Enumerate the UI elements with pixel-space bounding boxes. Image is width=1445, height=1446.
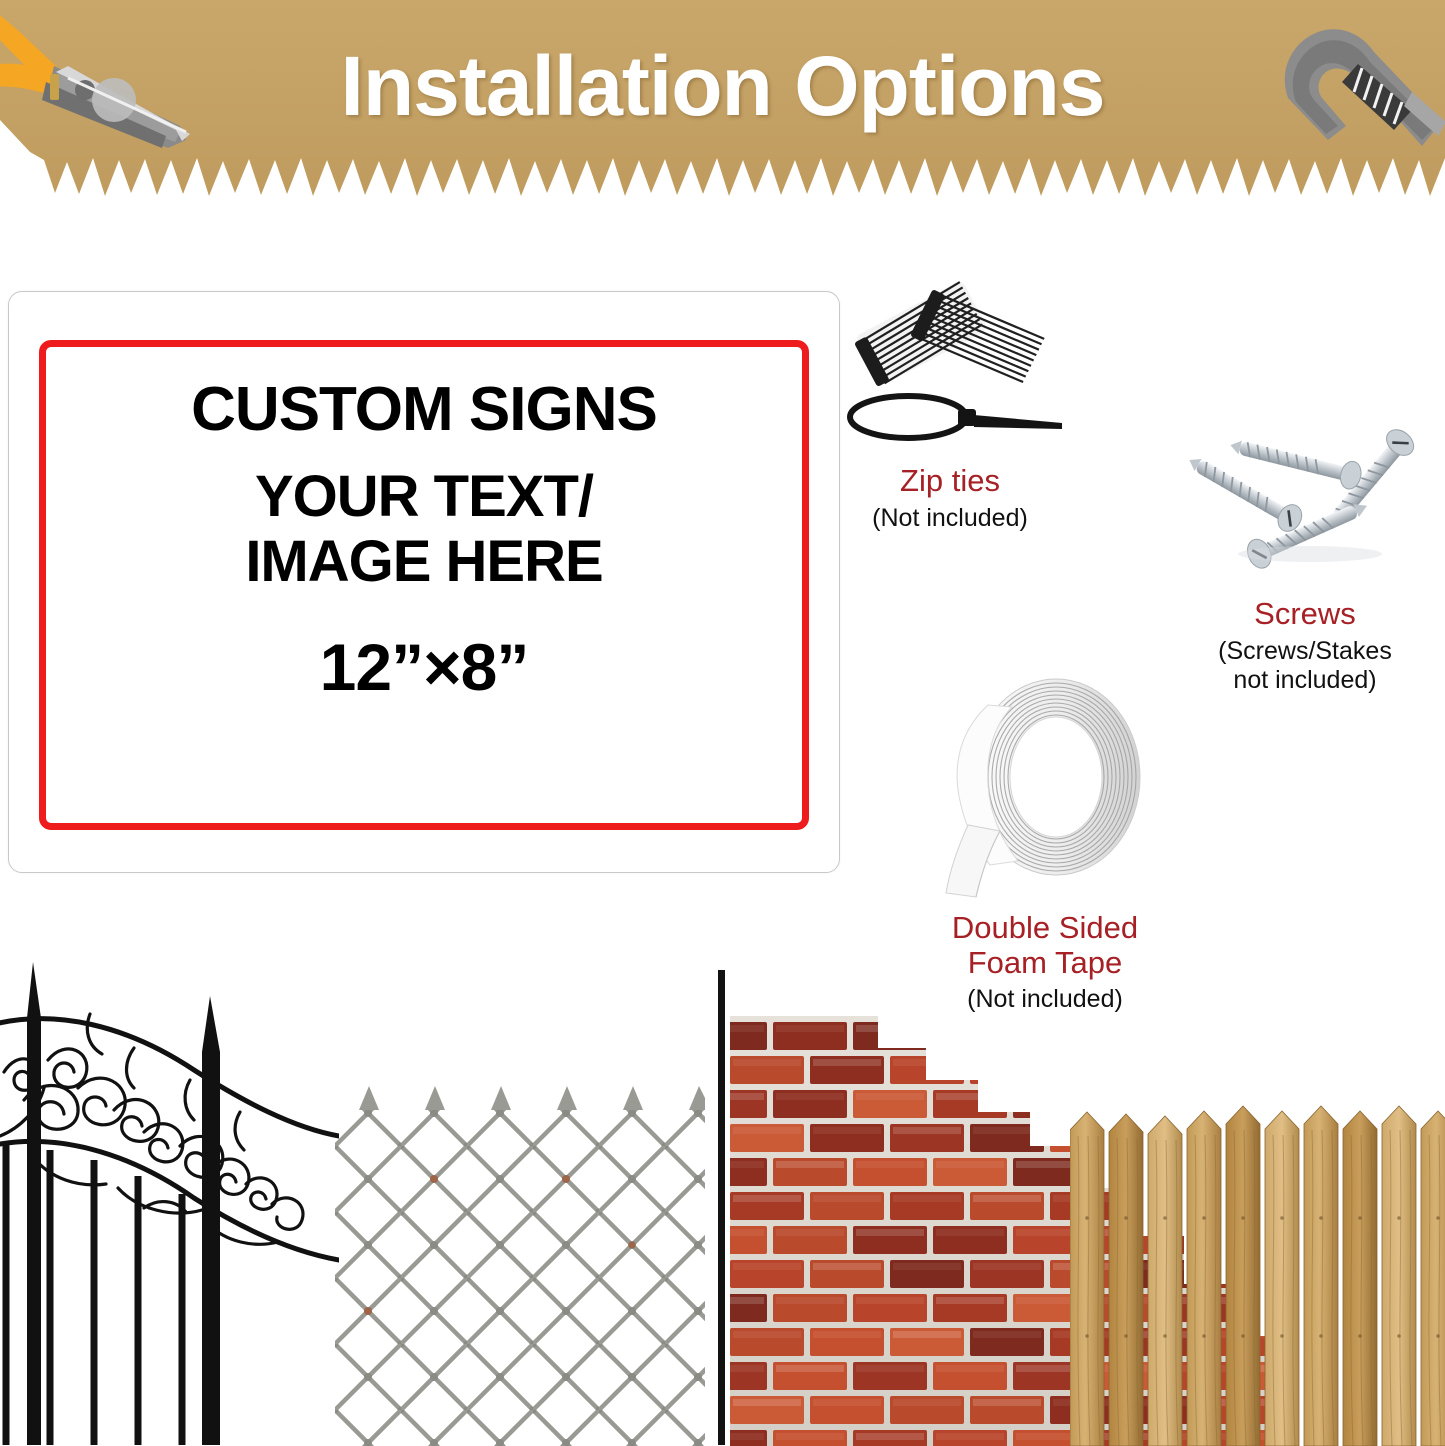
section-divider (718, 970, 725, 1445)
sign-red-border: CUSTOM SIGNS YOUR TEXT/ IMAGE HERE 12”×8… (39, 340, 809, 830)
sign-text-block: CUSTOM SIGNS YOUR TEXT/ IMAGE HERE 12”×8… (46, 347, 802, 823)
mounting-surfaces-row (0, 960, 1445, 1445)
sign-preview-card: CUSTOM SIGNS YOUR TEXT/ IMAGE HERE 12”×8… (8, 291, 840, 873)
wrench-icon (1262, 6, 1445, 166)
wood-fence-icon (1070, 1100, 1445, 1446)
screws-labels: Screws (Screws/Stakes not included) (1160, 597, 1445, 696)
sign-dimensions: 12”×8” (320, 629, 529, 705)
single-zip-tie-icon (850, 396, 1062, 438)
header-banner: Installation Options (0, 0, 1445, 205)
pliers-icon (0, 8, 220, 158)
zip-ties-note: (Not included) (800, 504, 1100, 534)
screws-label: Screws (1160, 597, 1445, 632)
sign-subline-1: YOUR TEXT/ (255, 465, 593, 530)
zip-ties-label: Zip ties (800, 464, 1100, 499)
accessory-screws: Screws (Screws/Stakes not included) (1160, 420, 1445, 696)
screws-note-line-1: (Screws/Stakes (1160, 637, 1445, 667)
zip-ties-labels: Zip ties (Not included) (800, 464, 1100, 533)
sign-subline-2: IMAGE HERE (245, 530, 602, 595)
screws-note-line-2: not included) (1160, 666, 1445, 696)
foam-tape-icon (890, 665, 1200, 900)
iron-gate-icon (0, 960, 339, 1445)
foam-tape-label-line-1: Double Sided (890, 911, 1200, 946)
zip-ties-icon (800, 255, 1100, 455)
screws-icon (1160, 420, 1445, 570)
chain-link-fence-icon (335, 1080, 705, 1446)
accessory-zip-ties: Zip ties (Not included) (800, 255, 1100, 533)
sign-heading: CUSTOM SIGNS (191, 379, 657, 441)
